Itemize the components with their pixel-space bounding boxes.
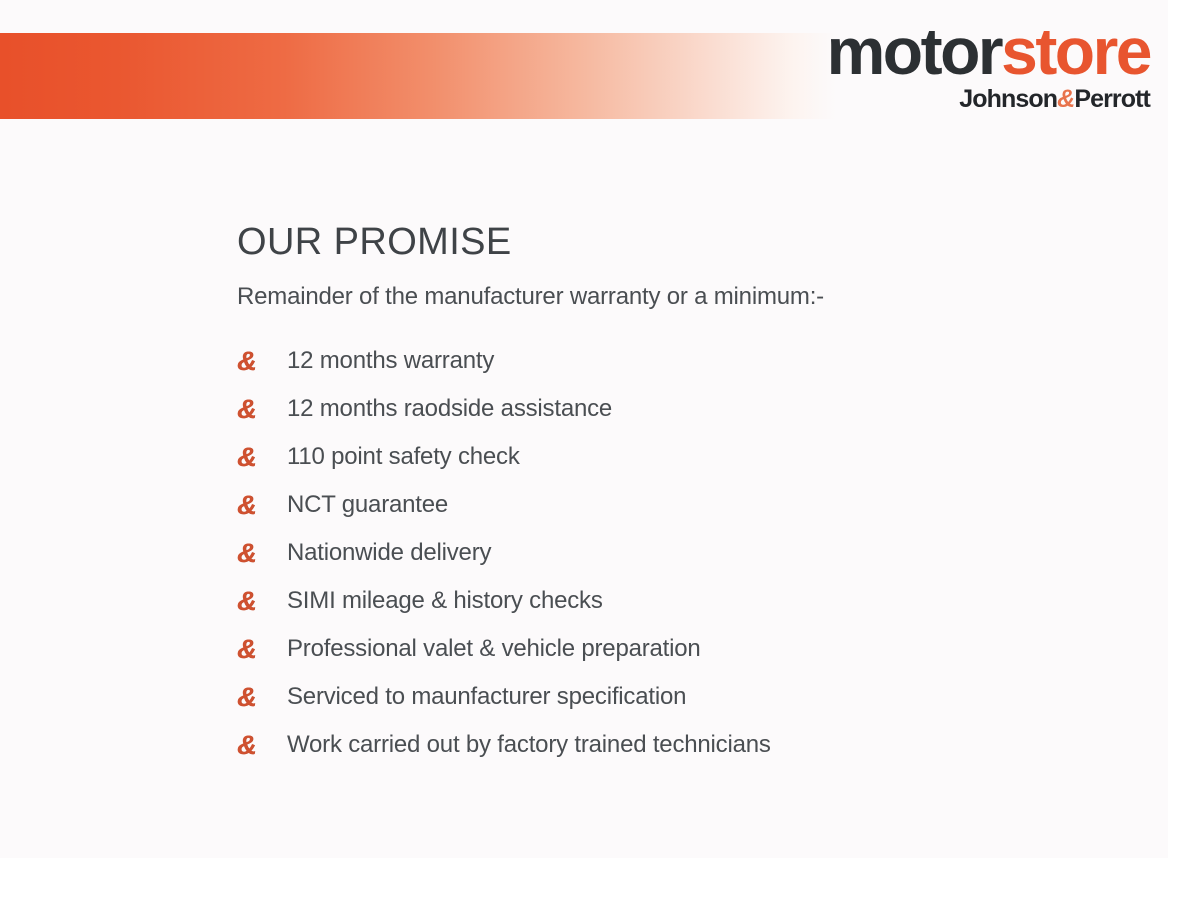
list-item-label: Serviced to maunfacturer specification bbox=[287, 683, 686, 712]
ampersand-bullet-icon: & bbox=[237, 540, 287, 567]
logo-sub-johnson: Johnson bbox=[959, 85, 1057, 113]
list-item: & Work carried out by factory trained te… bbox=[237, 722, 1137, 770]
header-band: motorstore Johnson&Perrott bbox=[0, 0, 1168, 140]
orange-gradient-bar bbox=[0, 33, 836, 119]
list-item-label: 12 months warranty bbox=[287, 347, 494, 376]
promise-list: & 12 months warranty & 12 months raodsid… bbox=[237, 338, 1137, 770]
list-item: & 12 months warranty bbox=[237, 338, 1137, 386]
ampersand-bullet-icon: & bbox=[237, 684, 287, 711]
ampersand-bullet-icon: & bbox=[237, 396, 287, 423]
list-item-label: 110 point safety check bbox=[287, 443, 520, 472]
promise-card: motorstore Johnson&Perrott OUR PROMISE R… bbox=[0, 0, 1168, 858]
list-item: & Nationwide delivery bbox=[237, 530, 1137, 578]
logo-sub-perrott: Perrott bbox=[1074, 85, 1150, 113]
ampersand-bullet-icon: & bbox=[237, 636, 287, 663]
list-item-label: Nationwide delivery bbox=[287, 539, 491, 568]
list-item-label: Work carried out by factory trained tech… bbox=[287, 731, 771, 760]
list-item: & Serviced to maunfacturer specification bbox=[237, 674, 1137, 722]
list-item: & 12 months raodside assistance bbox=[237, 386, 1137, 434]
logo-word-store: store bbox=[1001, 14, 1150, 88]
logo-word-motor: motor bbox=[827, 14, 1001, 88]
list-item-label: SIMI mileage & history checks bbox=[287, 587, 603, 616]
list-item-label: NCT guarantee bbox=[287, 491, 448, 520]
promise-subtitle: Remainder of the manufacturer warranty o… bbox=[237, 282, 1137, 312]
logo-wordmark: motorstore bbox=[790, 20, 1150, 83]
ampersand-bullet-icon: & bbox=[237, 444, 287, 471]
ampersand-bullet-icon: & bbox=[237, 588, 287, 615]
ampersand-bullet-icon: & bbox=[237, 492, 287, 519]
logo-sub-ampersand-icon: & bbox=[1057, 85, 1074, 113]
list-item: & NCT guarantee bbox=[237, 482, 1137, 530]
list-item: & SIMI mileage & history checks bbox=[237, 578, 1137, 626]
logo-sub-wordmark: Johnson&Perrott bbox=[790, 87, 1150, 112]
page-title: OUR PROMISE bbox=[237, 222, 1137, 264]
list-item-label: 12 months raodside assistance bbox=[287, 395, 612, 424]
ampersand-bullet-icon: & bbox=[237, 732, 287, 759]
list-item: & 110 point safety check bbox=[237, 434, 1137, 482]
list-item: & Professional valet & vehicle preparati… bbox=[237, 626, 1137, 674]
list-item-label: Professional valet & vehicle preparation bbox=[287, 635, 701, 664]
promise-content: OUR PROMISE Remainder of the manufacture… bbox=[237, 222, 1137, 770]
motorstore-logo: motorstore Johnson&Perrott bbox=[790, 20, 1150, 112]
ampersand-bullet-icon: & bbox=[237, 348, 287, 375]
